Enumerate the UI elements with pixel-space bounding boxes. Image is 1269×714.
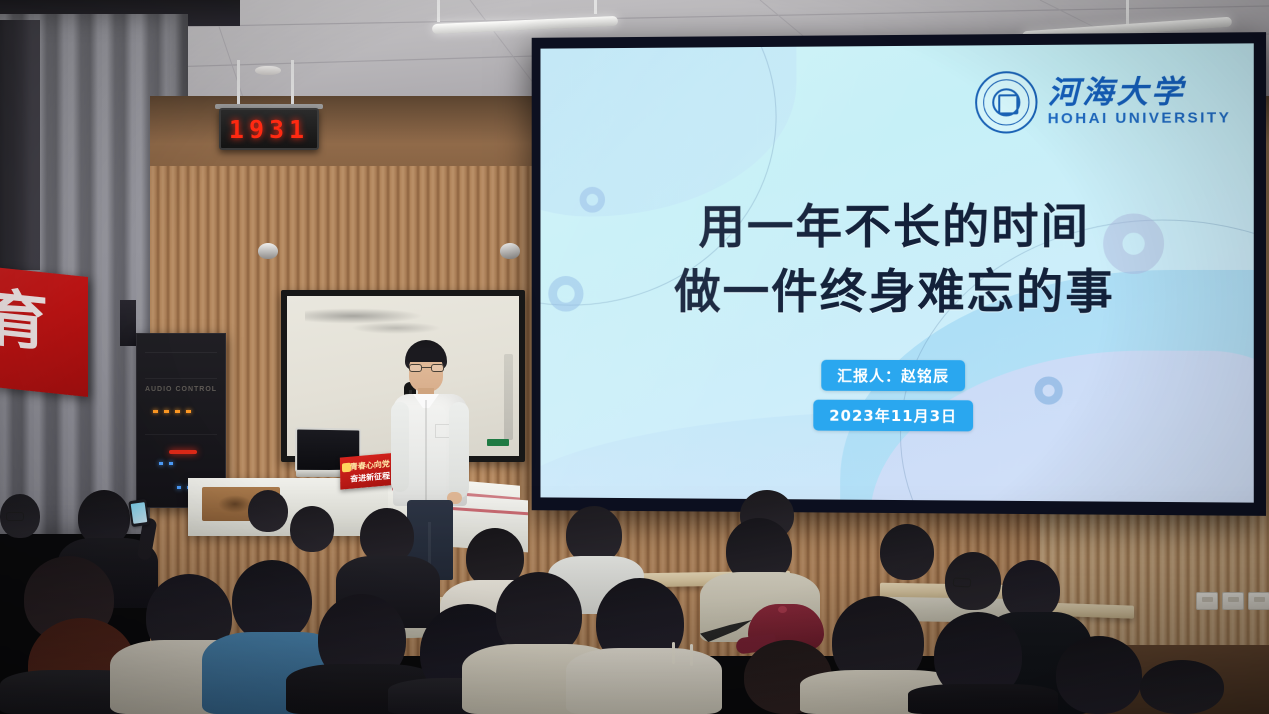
slide-content: 用一年不长的时间 做一件终身难忘的事 汇报人：赵铭辰 2023年11月3日 — [540, 195, 1253, 432]
presenter-left-arm — [391, 402, 409, 492]
audience-head — [290, 506, 334, 552]
light-suspension-rod — [594, 0, 597, 14]
red-banner: 育 — [0, 267, 88, 397]
audience-glasses-icon — [6, 512, 24, 521]
university-seal-icon — [975, 71, 1037, 134]
audience-head — [232, 560, 312, 642]
socket-slot — [1228, 597, 1239, 602]
clock-rod — [237, 60, 240, 108]
hoodie-drawstring — [690, 644, 693, 666]
audience-body-hoodie — [566, 648, 722, 714]
audience-head — [248, 490, 288, 532]
wall-socket — [1248, 592, 1269, 610]
smartphone-camera — [128, 499, 149, 527]
status-led — [175, 410, 180, 413]
speaker-cabinet — [120, 300, 136, 346]
slide-title-line-2: 做一件终身难忘的事 — [674, 261, 1115, 326]
banner-glyph-text: 育 — [0, 286, 48, 355]
projection-screen-frame: 河海大学 HOHAI UNIVERSITY 用一年不长的时间 做一件终身难忘的事… — [532, 32, 1266, 516]
audience-body — [908, 684, 1058, 714]
audience-head — [1002, 560, 1060, 620]
security-camera-icon — [258, 243, 278, 259]
rack-label-text: AUDIO CONTROL — [137, 386, 225, 393]
socket-slot — [1254, 597, 1265, 602]
slide-title-line-1: 用一年不长的时间 — [698, 196, 1090, 261]
seal-core-icon — [998, 94, 1018, 114]
glasses-right-lens — [431, 364, 444, 372]
status-led — [159, 462, 163, 465]
cap-button-icon — [778, 606, 787, 613]
whiteboard-smudge — [351, 322, 441, 334]
logo-chinese-name: 河海大学 — [1048, 76, 1186, 110]
status-led — [186, 410, 191, 413]
wall-socket — [1222, 592, 1244, 610]
status-led — [177, 486, 181, 489]
light-suspension-rod — [437, 0, 440, 22]
socket-slot — [1202, 597, 1213, 602]
glasses-bridge — [422, 367, 431, 368]
curtain-shadow — [0, 20, 40, 270]
sign-line-2: 奋进新征程 — [350, 470, 390, 485]
hoodie-drawstring — [672, 642, 675, 664]
logo-english-name: HOHAI UNIVERSITY — [1048, 109, 1232, 127]
presenter-glasses-icon — [409, 364, 444, 372]
rack-slot — [145, 352, 217, 353]
clock-rod — [291, 60, 294, 108]
presenter-shirt-placket — [425, 400, 427, 500]
presentation-slide: 河海大学 HOHAI UNIVERSITY 用一年不长的时间 做一件终身难忘的事… — [540, 43, 1253, 502]
audience-glasses-icon — [953, 577, 972, 587]
rack-led-group — [153, 410, 191, 413]
presenter-badge: 汇报人：赵铭辰 — [821, 360, 965, 391]
status-led — [164, 410, 169, 413]
audience-head — [880, 524, 934, 580]
rack-led-group — [159, 462, 173, 465]
security-camera-icon — [500, 243, 520, 259]
power-led — [169, 450, 197, 454]
clock-time-text: 1931 — [229, 115, 309, 144]
slide-badges: 汇报人：赵铭辰 2023年11月3日 — [813, 359, 973, 431]
status-led — [153, 410, 158, 413]
clock-display-body: 1931 — [219, 108, 319, 150]
glasses-left-lens — [409, 364, 422, 372]
plaque-engraving — [218, 495, 252, 513]
rack-slot — [145, 434, 217, 435]
presenter-fringe — [406, 348, 446, 362]
logo-text-block: 河海大学 HOHAI UNIVERSITY — [1048, 76, 1232, 128]
date-badge: 2023年11月3日 — [813, 399, 973, 431]
university-logo: 河海大学 HOHAI UNIVERSITY — [975, 70, 1231, 134]
audience-head — [1140, 660, 1224, 714]
lecture-hall-photo: 1931 育 河海大学 HOHAI UNIVERSITY — [0, 0, 1269, 714]
presenter-right-arm — [449, 402, 469, 498]
wall-clock: 1931 — [219, 60, 319, 160]
whiteboard-toolbar — [504, 354, 513, 440]
status-led — [169, 462, 173, 465]
whiteboard-brand-label — [487, 439, 509, 446]
wall-socket — [1196, 592, 1218, 610]
audience-head — [1056, 636, 1142, 714]
rack-slot — [145, 378, 217, 379]
light-suspension-rod — [1126, 0, 1129, 26]
